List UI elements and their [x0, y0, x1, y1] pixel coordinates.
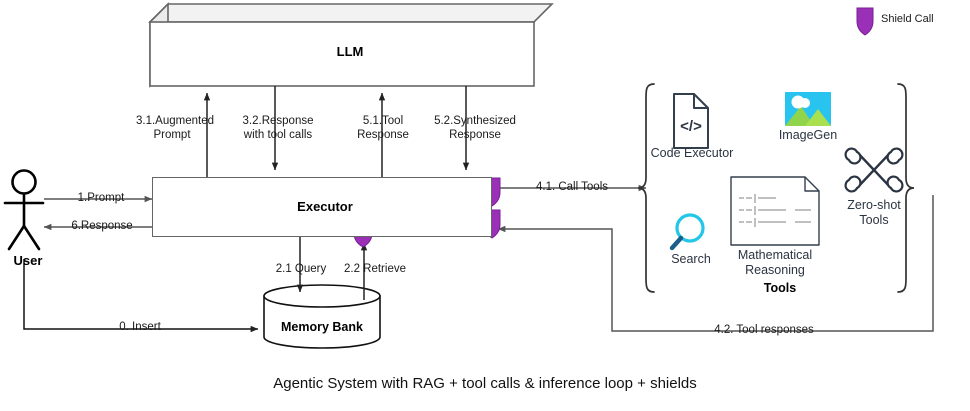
tool-label-search: Search	[660, 252, 722, 267]
edge-label-synthesized-response: 5.2.Synthesized Response	[430, 115, 520, 142]
edge-label-insert: 0. Insert	[100, 321, 180, 335]
memory-bank-label: Memory Bank	[264, 320, 380, 334]
math-document-icon	[731, 177, 819, 245]
edge-label-query: 2.1 Query	[268, 263, 334, 277]
crossed-wrenches-icon	[846, 149, 903, 192]
edge-label-prompt: 1.Prompt	[62, 192, 140, 206]
stick-figure-icon	[5, 171, 43, 250]
magnifier-icon	[672, 215, 703, 248]
legend-shield-label: Shield Call	[881, 13, 934, 25]
diagram-caption: Agentic System with RAG + tool calls & i…	[0, 375, 970, 392]
edge-label-call-tools: 4.1. Call Tools	[520, 181, 624, 195]
svg-text:</>: </>	[680, 118, 702, 135]
edge-label-augmented-prompt: 3.1.Augmented Prompt	[136, 115, 208, 142]
user-label: User	[0, 253, 56, 268]
diagram-canvas: </>	[0, 0, 970, 411]
edge-label-response: 6.Response	[58, 220, 146, 234]
executor-node-label: Executor	[180, 199, 470, 214]
edge-insert	[24, 259, 258, 329]
tool-label-code-executor: Code Executor	[647, 146, 737, 161]
tool-label-mathematical-reasoning: Mathematical Reasoning	[723, 248, 827, 277]
code-document-icon: </>	[674, 94, 708, 148]
memory-bank-cylinder	[264, 285, 380, 348]
llm-node-label: LLM	[160, 44, 540, 59]
edge-label-response-tool-calls: 3.2.Response with tool calls	[238, 115, 318, 142]
tool-label-imagegen: ImageGen	[768, 128, 848, 143]
edge-label-retrieve: 2.2 Retrieve	[334, 263, 416, 277]
legend-shield-swatch	[853, 5, 875, 33]
edge-label-tool-responses: 4.2. Tool responses	[664, 324, 864, 338]
edge-label-tool-response: 5.1.Tool Response	[352, 115, 414, 142]
tool-label-zero-shot-tools: Zero-shot Tools	[838, 198, 910, 227]
tools-group-label: Tools	[700, 281, 860, 295]
legend: Shield Call	[853, 5, 934, 33]
image-picture-icon	[785, 92, 831, 126]
